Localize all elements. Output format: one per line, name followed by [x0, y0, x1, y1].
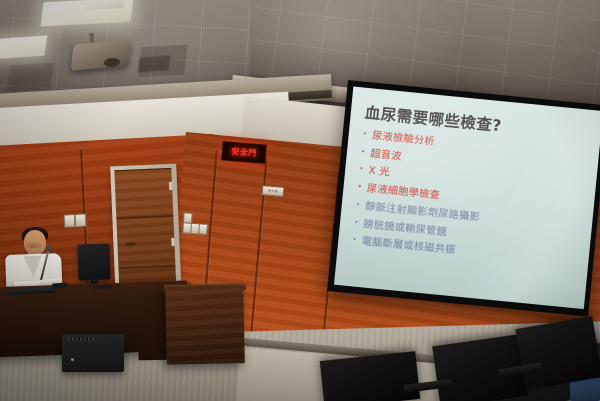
slide-bullet-text: X 光	[368, 167, 390, 179]
wall-plate-label: 刷卡機	[263, 186, 284, 196]
slide-bullet-text: 電腦斷層或核磁共振	[361, 237, 456, 256]
exit-sign: 安全門	[221, 141, 266, 163]
door-rail	[116, 215, 173, 219]
bullet-dot-icon: •	[361, 148, 366, 155]
podium	[165, 285, 245, 365]
door-hinge	[169, 182, 172, 190]
slide-bullet-text: 膀胱鏡或輸尿管鏡	[363, 220, 448, 238]
slide-bullet-list: • 尿液檢驗分析 • 超音波 • X 光 • 尿液細胞學檢查	[352, 131, 589, 269]
slide-bullet-text: 尿液細胞學檢查	[366, 184, 440, 201]
chair-back	[320, 351, 420, 401]
microphone-head-icon	[45, 246, 51, 252]
door-hinge	[171, 238, 174, 246]
presentation-slide: 血尿需要哪些檢查? • 尿液檢驗分析 • 超音波 • X 光	[334, 87, 600, 310]
ceiling-vent	[137, 55, 171, 73]
desk-monitor	[77, 243, 110, 280]
room-photo: 刷卡機 安全門 血尿需要哪些檢查? • 尿液檢驗分析	[0, 0, 600, 401]
slide-bullet-text: 超音波	[370, 149, 402, 162]
projection-screen: 血尿需要哪些檢查? • 尿液檢驗分析 • 超音波 • X 光	[334, 87, 600, 310]
projection-screen-frame: 血尿需要哪些檢查? • 尿液檢驗分析 • 超音波 • X 光	[327, 80, 600, 317]
bullet-dot-icon: •	[362, 131, 367, 138]
bullet-dot-icon: •	[356, 201, 361, 208]
bullet-dot-icon: •	[354, 219, 359, 226]
slide-bullet-text: 尿液檢驗分析	[372, 132, 436, 148]
light-switch-bank[interactable]	[182, 212, 205, 233]
wall-card-reader-plate[interactable]: 刷卡機	[262, 185, 285, 197]
bullet-dot-icon: •	[359, 166, 364, 173]
wall-outlet	[75, 213, 87, 227]
door-rail	[118, 265, 175, 269]
ceiling-projector	[70, 39, 131, 70]
equipment-led-indicator	[71, 358, 74, 361]
bullet-dot-icon: •	[352, 236, 357, 243]
light-switch[interactable]	[198, 223, 208, 235]
ceiling-tile-dark	[7, 63, 54, 91]
equipment-vent	[68, 337, 94, 341]
door-handle[interactable]	[125, 242, 135, 245]
lab-coat-lapel	[24, 256, 43, 279]
chair-back	[515, 316, 600, 391]
exit-sign-label: 安全門	[231, 146, 257, 159]
wall-outlet-group-left	[64, 213, 87, 225]
bullet-dot-icon: •	[357, 184, 362, 191]
wall-outlet	[64, 214, 76, 228]
